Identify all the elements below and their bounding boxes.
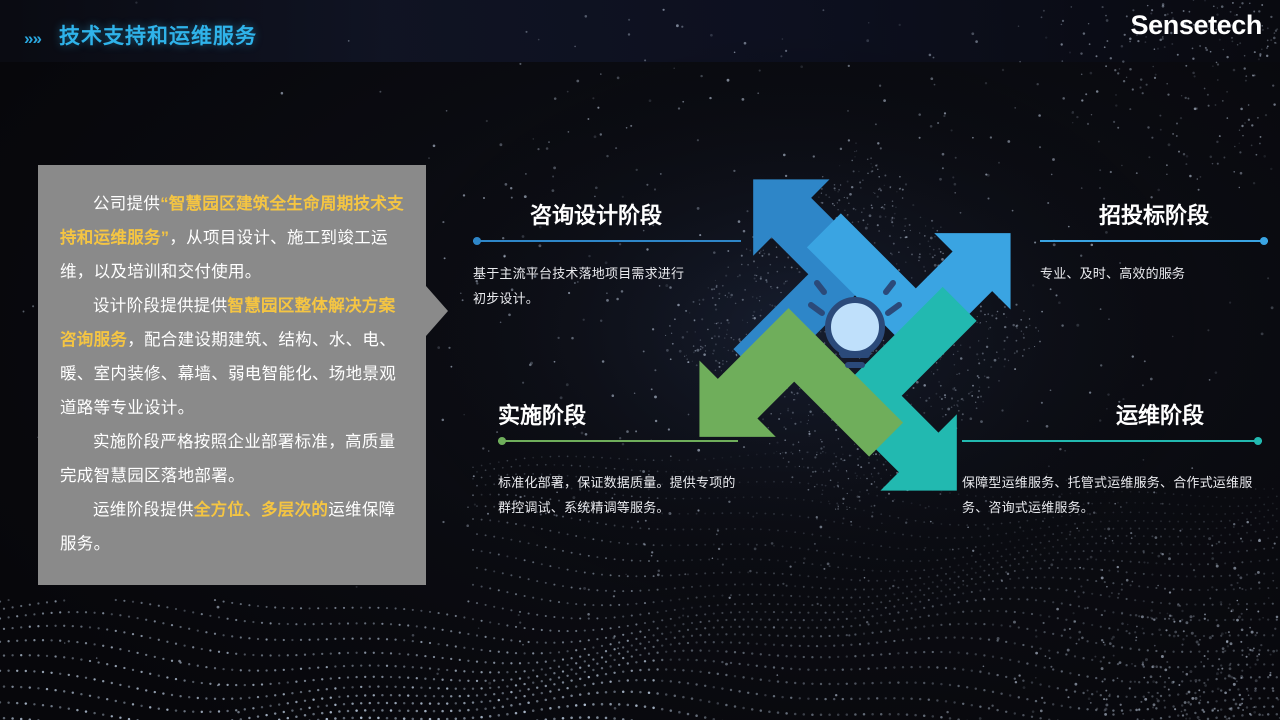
- description-panel: 公司提供“智慧园区建筑全生命周期技术支持和运维服务”，从项目设计、施工到竣工运维…: [38, 165, 426, 585]
- panel-pointer-icon: [426, 286, 448, 336]
- rule-line: [962, 440, 1262, 442]
- rule-dot: [498, 437, 506, 445]
- quadrant-ops-title: 运维阶段: [962, 405, 1262, 427]
- rule-dot: [1254, 437, 1262, 445]
- quadrant-bid-title: 招投标阶段: [1040, 205, 1268, 227]
- quadrant-ops-rule: [962, 440, 1262, 442]
- body-text: 实施阶段严格按照企业部署标准，高质量完成智慧园区落地部署。: [60, 433, 395, 485]
- description-paragraph: 运维阶段提供全方位、多层次的运维保障服务。: [60, 493, 404, 561]
- rule-line: [498, 440, 738, 442]
- description-paragraph: 实施阶段严格按照企业部署标准，高质量完成智慧园区落地部署。: [60, 425, 404, 493]
- quadrant-bid: 招投标阶段 专业、及时、高效的服务: [1040, 205, 1268, 286]
- description-paragraph: 公司提供“智慧园区建筑全生命周期技术支持和运维服务”，从项目设计、施工到竣工运维…: [60, 187, 404, 289]
- slide-canvas: »» 技术支持和运维服务 Sensetech 公司提供“智慧园区建筑全生命周期技…: [0, 0, 1280, 720]
- quadrant-impl-title: 实施阶段: [498, 405, 738, 427]
- rule-line: [1040, 240, 1268, 242]
- quadrant-impl-rule: [498, 440, 738, 442]
- quadrant-impl: 实施阶段 标准化部署，保证数据质量。提供专项的群控调试、系统精调等服务。: [498, 405, 738, 520]
- quadrant-impl-desc: 标准化部署，保证数据质量。提供专项的群控调试、系统精调等服务。: [498, 470, 738, 520]
- quadrant-bid-desc: 专业、及时、高效的服务: [1040, 261, 1268, 286]
- slide-header: »» 技术支持和运维服务 Sensetech: [0, 0, 1280, 62]
- body-text: 运维阶段提供: [93, 501, 194, 519]
- page-title: 技术支持和运维服务: [59, 26, 257, 47]
- quadrant-consult-desc: 基于主流平台技术落地项目需求进行初步设计。: [473, 261, 688, 311]
- quadrant-consult-title: 咨询设计阶段: [473, 205, 741, 227]
- body-text: 公司提供: [93, 195, 160, 213]
- description-paragraph: 设计阶段提供提供智慧园区整体解决方案咨询服务，配合建设期建筑、结构、水、电、暖、…: [60, 289, 404, 425]
- quadrant-consult-rule: [473, 240, 741, 242]
- quadrant-bid-rule: [1040, 240, 1268, 242]
- rule-dot: [473, 237, 481, 245]
- quadrant-consult: 咨询设计阶段 基于主流平台技术落地项目需求进行初步设计。: [473, 205, 741, 311]
- quadrant-ops-desc: 保障型运维服务、托管式运维服务、合作式运维服务、咨询式运维服务。: [962, 470, 1262, 520]
- rule-dot: [1260, 237, 1268, 245]
- body-text: 设计阶段提供提供: [93, 297, 227, 315]
- description-text: 公司提供“智慧园区建筑全生命周期技术支持和运维服务”，从项目设计、施工到竣工运维…: [38, 165, 426, 585]
- chevron-right-icon: »»: [24, 30, 41, 47]
- quadrant-ops: 运维阶段 保障型运维服务、托管式运维服务、合作式运维服务、咨询式运维服务。: [962, 405, 1262, 520]
- rule-line: [473, 240, 741, 242]
- brand-logo: Sensetech: [1131, 12, 1262, 39]
- highlighted-text: 全方位、多层次的: [194, 501, 328, 519]
